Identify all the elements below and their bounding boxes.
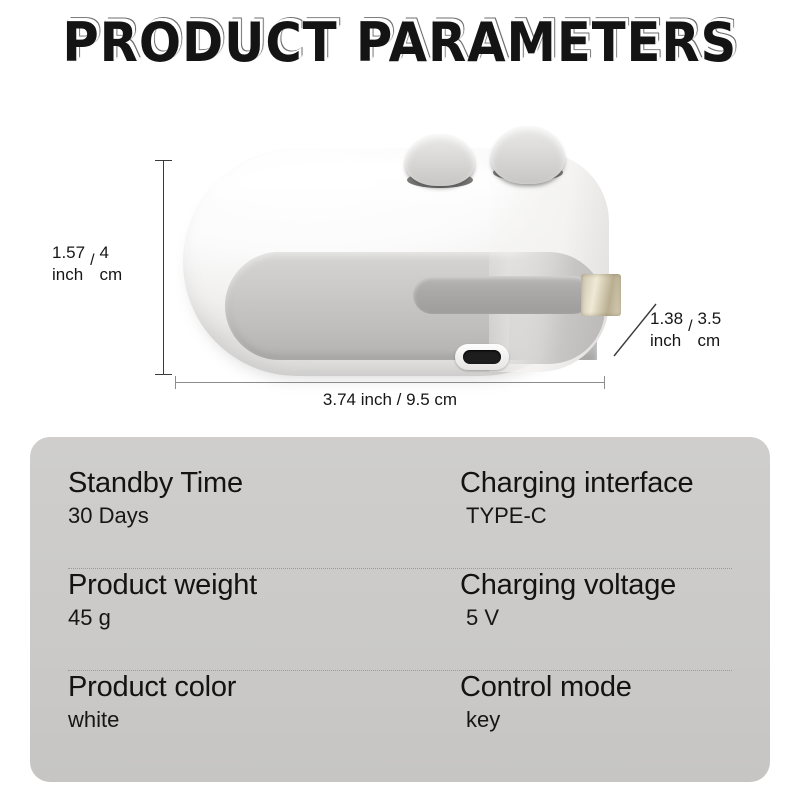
spec-value: 30 Days xyxy=(68,501,460,531)
dimension-line-height xyxy=(163,160,164,375)
spec-row: Standby Time 30 Days Charging interface … xyxy=(30,467,770,569)
dimension-depth-inch-value: 1.38 xyxy=(650,308,683,330)
page-title: PRODUCT PARAMETERS xyxy=(63,16,738,70)
spec-label: Charging voltage xyxy=(460,569,770,601)
dimension-cap-right xyxy=(604,376,605,389)
spec-cell-charging-interface: Charging interface TYPE-C xyxy=(460,467,770,569)
spec-cell-control-mode: Control mode key xyxy=(460,671,770,773)
spec-label: Product weight xyxy=(68,569,460,601)
spec-row: Product weight 45 g Charging voltage 5 V xyxy=(30,569,770,671)
spec-value: TYPE-C xyxy=(460,501,770,531)
dimension-height-cm-value: 4 xyxy=(100,242,123,264)
dimension-depth-cm-value: 3.5 xyxy=(698,308,722,330)
dimension-height-cm-unit: cm xyxy=(100,264,123,286)
device-button-left[interactable] xyxy=(405,134,475,186)
product-device-image xyxy=(183,148,595,376)
spec-cell-product-weight: Product weight 45 g xyxy=(30,569,460,671)
dimension-height-inch-unit: inch xyxy=(52,264,85,286)
spec-value: white xyxy=(68,705,460,735)
device-button-right[interactable] xyxy=(491,126,565,184)
usb-c-port-icon xyxy=(455,344,509,370)
dimension-depth-separator: / xyxy=(688,308,692,337)
spec-row: Product color white Control mode key xyxy=(30,671,770,773)
device-sealing-bar xyxy=(413,276,593,314)
dimension-label-depth: 1.38 inch / 3.5 cm xyxy=(650,308,721,352)
spec-cell-charging-voltage: Charging voltage 5 V xyxy=(460,569,770,671)
product-illustration: 1.57 inch / 4 cm 1.38 inch / 3.5 cm 3.74… xyxy=(0,110,800,420)
spec-value: key xyxy=(460,705,770,735)
dimension-depth-cm-unit: cm xyxy=(698,330,722,352)
dimension-height-inch-value: 1.57 xyxy=(52,242,85,264)
dimension-label-width: 3.74 inch / 9.5 cm xyxy=(175,390,605,410)
specifications-panel: Standby Time 30 Days Charging interface … xyxy=(30,437,770,782)
title-area: PRODUCT PARAMETERS xyxy=(0,16,800,70)
spec-label: Control mode xyxy=(460,671,770,703)
spec-cell-product-color: Product color white xyxy=(30,671,460,773)
dimension-cap-bottom xyxy=(155,374,172,375)
dimension-cap-left xyxy=(175,376,176,389)
spec-cell-standby-time: Standby Time 30 Days xyxy=(30,467,460,569)
dimension-line-width xyxy=(175,382,605,383)
dimension-depth-inch-unit: inch xyxy=(650,330,683,352)
dimension-label-height: 1.57 inch / 4 cm xyxy=(52,242,122,286)
spec-label: Standby Time xyxy=(68,467,460,499)
spec-value: 45 g xyxy=(68,603,460,633)
spec-value: 5 V xyxy=(460,603,770,633)
spec-label: Charging interface xyxy=(460,467,770,499)
spec-label: Product color xyxy=(68,671,460,703)
dimension-height-separator: / xyxy=(90,242,94,271)
dimension-cap-top xyxy=(155,160,172,161)
